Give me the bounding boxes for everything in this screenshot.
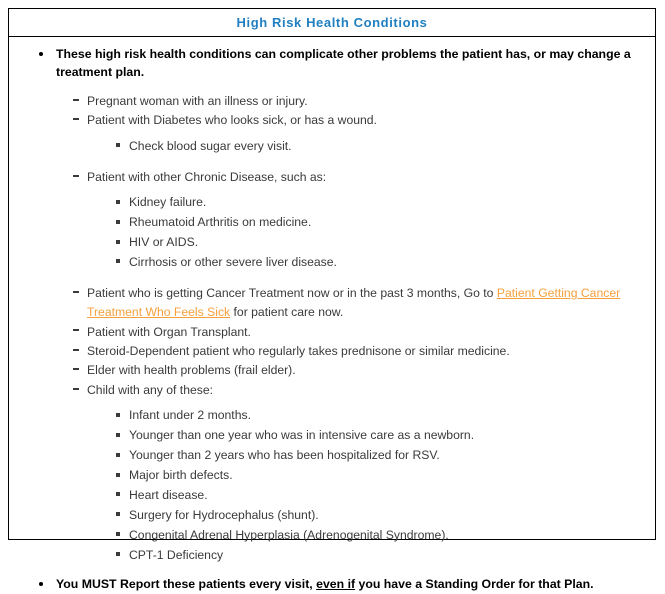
list-item: Cirrhosis or other severe liver disease. xyxy=(9,253,655,273)
bullet-dash-icon xyxy=(73,381,79,400)
spacer xyxy=(9,157,655,168)
child-item-label: Younger than 2 years who has been hospit… xyxy=(129,448,440,462)
bullet-square-icon xyxy=(116,233,120,253)
cancer-suffix-text: for patient care now. xyxy=(230,305,343,319)
page-title: High Risk Health Conditions xyxy=(237,15,428,30)
bullet-square-icon xyxy=(116,446,120,466)
list-item-chronic-disease: Patient with other Chronic Disease, such… xyxy=(9,168,655,187)
spacer xyxy=(9,83,655,92)
bullet-square-icon xyxy=(116,253,120,273)
child-item-label: Infant under 2 months. xyxy=(129,408,251,422)
bullet-dash-icon xyxy=(73,323,79,342)
list-item-footer-notice: You MUST Report these patients every vis… xyxy=(9,576,655,594)
bullet-square-icon xyxy=(116,137,120,157)
child-item-label: Congenital Adrenal Hyperplasia (Adrenoge… xyxy=(129,528,449,542)
bullet-dash-icon xyxy=(73,284,79,303)
list-item: Younger than one year who was in intensi… xyxy=(9,426,655,446)
bullet-square-icon xyxy=(116,193,120,213)
bullet-dot-icon xyxy=(39,46,43,64)
list-item-cancer-treatment: Patient who is getting Cancer Treatment … xyxy=(9,284,655,323)
bullet-square-icon xyxy=(116,213,120,233)
chronic-item-label: Cirrhosis or other severe liver disease. xyxy=(129,255,337,269)
child-item-label: Heart disease. xyxy=(129,488,208,502)
list-item-pregnant: Pregnant woman with an illness or injury… xyxy=(9,92,655,111)
list-item: Rheumatoid Arthritis on medicine. xyxy=(9,213,655,233)
list-item: Infant under 2 months. xyxy=(9,406,655,426)
chronic-items-list: Kidney failure. Rheumatoid Arthritis on … xyxy=(9,193,655,273)
bullet-square-icon xyxy=(116,506,120,526)
bullet-square-icon xyxy=(116,486,120,506)
child-items-group: Infant under 2 months. Younger than one … xyxy=(9,400,655,576)
cancer-prefix-text: Patient who is getting Cancer Treatment … xyxy=(87,286,497,300)
condition-label: Patient with Organ Transplant. xyxy=(87,325,251,339)
bullet-dot-icon xyxy=(39,576,43,594)
footer-emphasis-text: even if xyxy=(316,577,355,591)
bullet-square-icon xyxy=(116,466,120,486)
spacer xyxy=(9,565,655,576)
child-item-label: Younger than one year who was in intensi… xyxy=(129,428,474,442)
bullet-dash-icon xyxy=(73,342,79,361)
list-item: Younger than 2 years who has been hospit… xyxy=(9,446,655,466)
chronic-items-group: Kidney failure. Rheumatoid Arthritis on … xyxy=(9,187,655,284)
spacer xyxy=(9,273,655,284)
condition-label: Pregnant woman with an illness or injury… xyxy=(87,94,308,108)
list-item-frail-elder: Elder with health problems (frail elder)… xyxy=(9,361,655,380)
bullet-dash-icon xyxy=(73,361,79,380)
diabetes-note-group: Check blood sugar every visit. xyxy=(9,131,655,168)
list-item-diabetes-note: Check blood sugar every visit. xyxy=(9,137,655,157)
bullet-square-icon xyxy=(116,426,120,446)
list-item: Congenital Adrenal Hyperplasia (Adrenoge… xyxy=(9,526,655,546)
list-item: HIV or AIDS. xyxy=(9,233,655,253)
bullet-dash-icon xyxy=(73,111,79,130)
document-body: These high risk health conditions can co… xyxy=(9,37,655,594)
condition-label: Patient with Diabetes who looks sick, or… xyxy=(87,113,377,127)
list-item-child-header: Child with any of these: xyxy=(9,381,655,400)
list-item-organ-transplant: Patient with Organ Transplant. xyxy=(9,323,655,342)
list-item: Kidney failure. xyxy=(9,193,655,213)
footer-prefix-text: You MUST Report these patients every vis… xyxy=(56,577,316,591)
list-item-diabetes: Patient with Diabetes who looks sick, or… xyxy=(9,111,655,130)
bullet-dash-icon xyxy=(73,92,79,111)
document-header: High Risk Health Conditions xyxy=(9,9,655,37)
chronic-item-label: HIV or AIDS. xyxy=(129,235,198,249)
footer-suffix-text: you have a Standing Order for that Plan. xyxy=(355,577,593,591)
note-label: Check blood sugar every visit. xyxy=(129,139,292,153)
list-item: Heart disease. xyxy=(9,486,655,506)
conditions-list: Pregnant woman with an illness or injury… xyxy=(9,92,655,576)
intro-text: These high risk health conditions can co… xyxy=(56,47,631,79)
top-level-list: These high risk health conditions can co… xyxy=(9,37,655,594)
child-items-list: Infant under 2 months. Younger than one … xyxy=(9,406,655,565)
diabetes-note-list: Check blood sugar every visit. xyxy=(9,137,655,157)
conditions-group: Pregnant woman with an illness or injury… xyxy=(9,83,655,576)
chronic-item-label: Kidney failure. xyxy=(129,195,206,209)
list-item-intro: These high risk health conditions can co… xyxy=(9,46,655,81)
condition-label: Steroid-Dependent patient who regularly … xyxy=(87,344,510,358)
condition-label: Child with any of these: xyxy=(87,383,213,397)
list-item: Major birth defects. xyxy=(9,466,655,486)
list-item-steroid-dependent: Steroid-Dependent patient who regularly … xyxy=(9,342,655,361)
condition-label: Elder with health problems (frail elder)… xyxy=(87,363,296,377)
condition-label: Patient with other Chronic Disease, such… xyxy=(87,170,326,184)
chronic-item-label: Rheumatoid Arthritis on medicine. xyxy=(129,215,311,229)
list-item: CPT-1 Deficiency xyxy=(9,546,655,566)
document-panel: High Risk Health Conditions These high r… xyxy=(8,8,656,540)
bullet-square-icon xyxy=(116,546,120,566)
child-item-label: Surgery for Hydrocephalus (shunt). xyxy=(129,508,319,522)
bullet-dash-icon xyxy=(73,168,79,187)
bullet-square-icon xyxy=(116,526,120,546)
bullet-square-icon xyxy=(116,406,120,426)
list-item: Surgery for Hydrocephalus (shunt). xyxy=(9,506,655,526)
child-item-label: Major birth defects. xyxy=(129,468,233,482)
